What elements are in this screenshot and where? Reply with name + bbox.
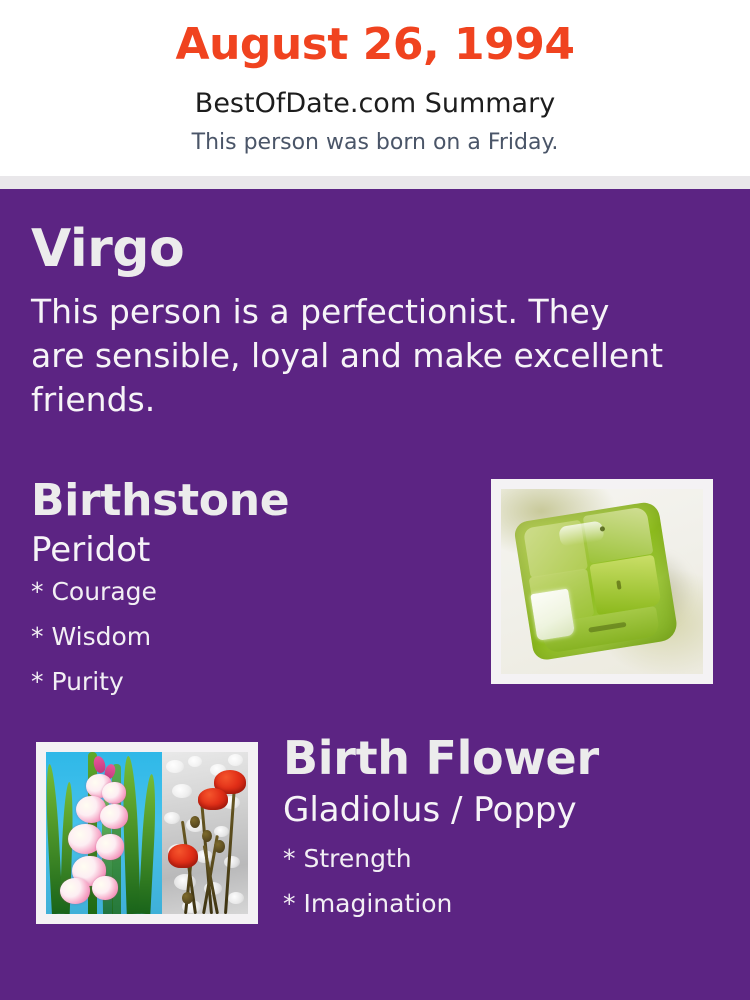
born-day-text: This person was born on a Friday. (0, 131, 750, 155)
birthflower-image-frame (36, 742, 258, 924)
poppy-bloom (198, 788, 228, 810)
birthflower-heading: Birth Flower (283, 735, 599, 781)
list-item: * Purity (31, 669, 361, 694)
list-item: * Courage (31, 579, 361, 604)
zodiac-sign-heading: Virgo (31, 223, 184, 275)
list-item: * Imagination (283, 891, 663, 916)
poppy-bloom (168, 844, 198, 868)
birthday-summary-card: August 26, 1994 BestOfDate.com Summary T… (0, 0, 750, 1000)
site-summary-label: BestOfDate.com Summary (0, 89, 750, 119)
poppy-photo-half (162, 752, 248, 914)
list-item: * Strength (283, 846, 663, 871)
birthflower-image (46, 752, 248, 914)
birthstone-name: Peridot (31, 533, 150, 567)
header-divider (0, 176, 750, 189)
birthstone-image-frame (491, 479, 713, 684)
birthstone-heading: Birthstone (31, 479, 289, 523)
gem-highlight (530, 588, 575, 641)
birthflower-trait-list: * Strength * Imagination (283, 846, 663, 936)
page-title: August 26, 1994 (0, 22, 750, 68)
birthstone-trait-list: * Courage * Wisdom * Purity (31, 579, 361, 714)
peridot-gem-icon (513, 500, 679, 661)
card-header: August 26, 1994 BestOfDate.com Summary T… (0, 0, 750, 176)
zodiac-description: This person is a perfectionist. They are… (31, 290, 671, 422)
card-body: Virgo This person is a perfectionist. Th… (0, 189, 750, 1000)
list-item: * Wisdom (31, 624, 361, 649)
birthstone-image (501, 489, 703, 674)
gem-inclusion (599, 526, 605, 532)
birthflower-name: Gladiolus / Poppy (283, 793, 577, 827)
gladiolus-photo-half (46, 752, 162, 914)
